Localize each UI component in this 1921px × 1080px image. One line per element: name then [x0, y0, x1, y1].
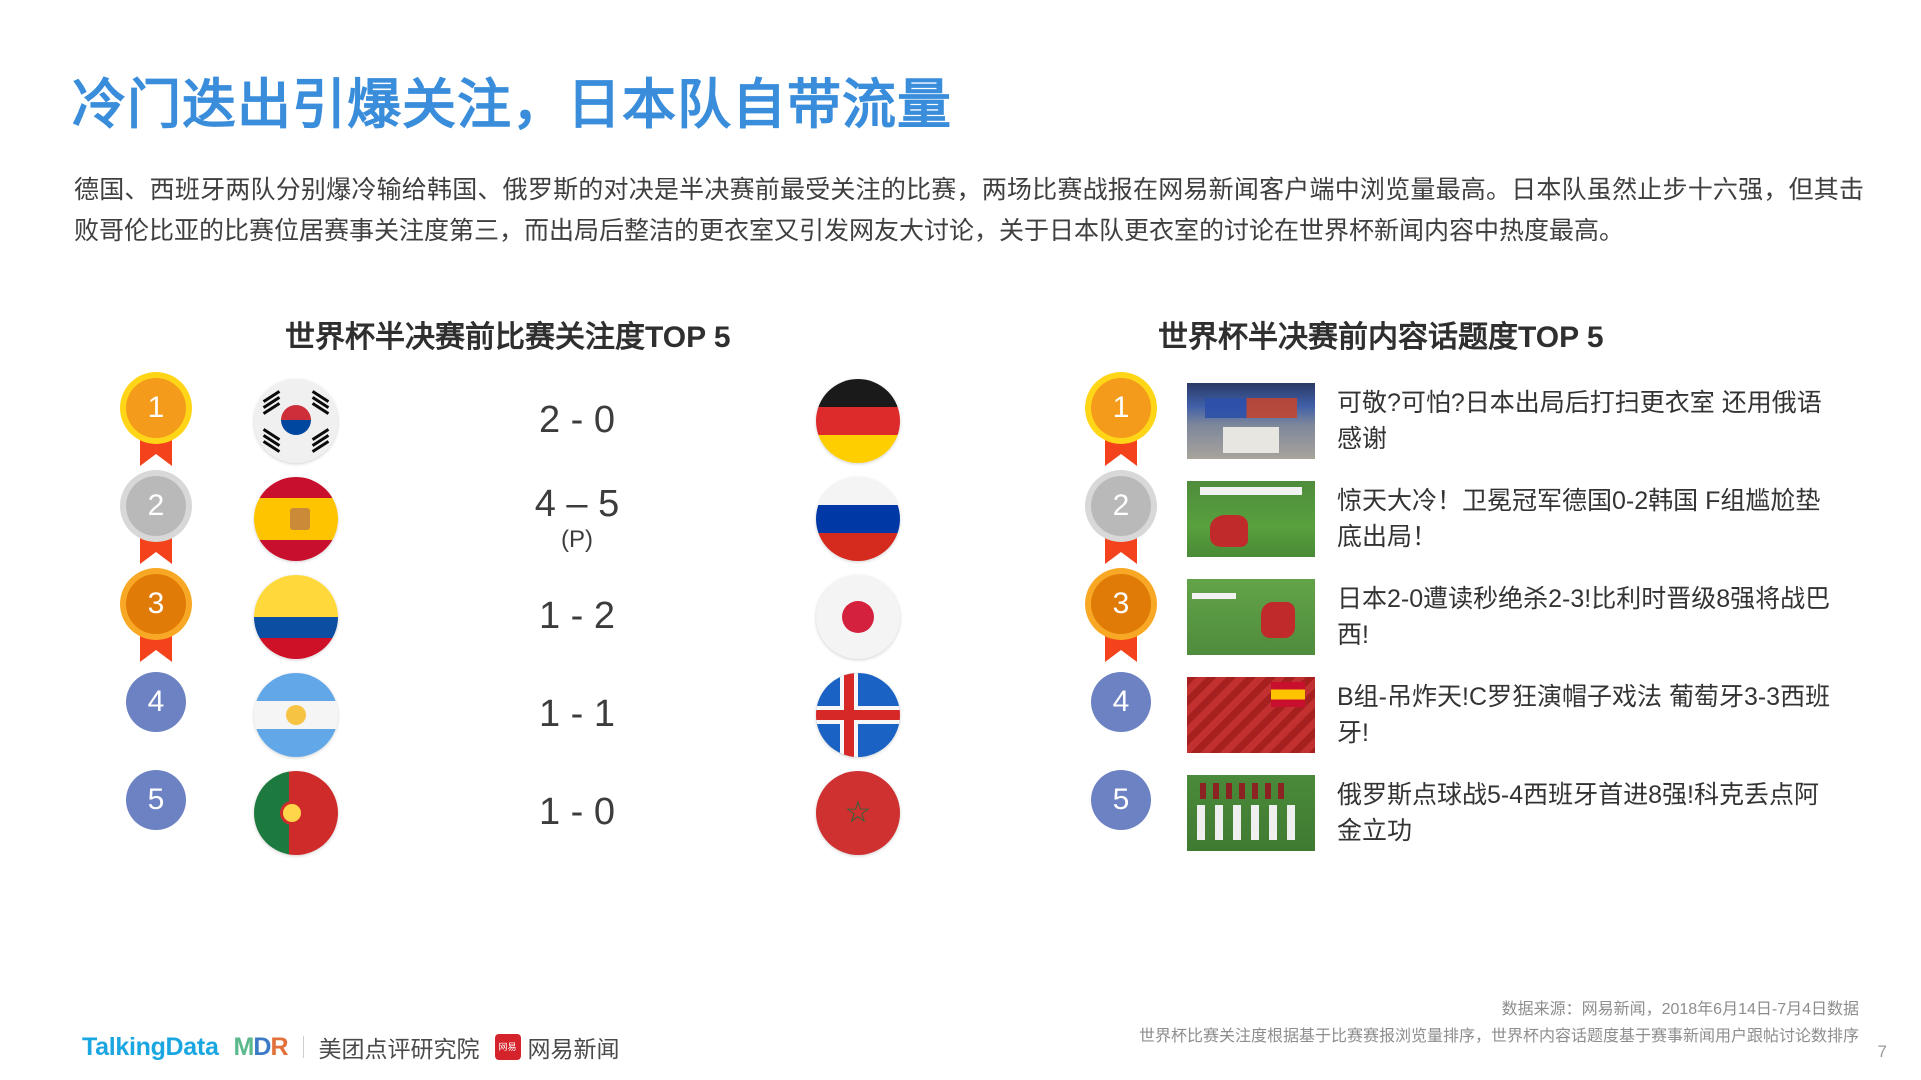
portugal-crest-icon	[280, 801, 304, 825]
match-score: 1 - 2	[338, 597, 816, 637]
slide-root: 冷门迭出引爆关注，日本队自带流量 德国、西班牙两队分别爆冷输给韩国、俄罗斯的对决…	[0, 0, 1921, 1080]
content-title: 可敬?可怕?日本出局后打扫更衣室 还用俄语感谢	[1337, 385, 1845, 457]
list-item[interactable]: 2 惊天大冷！卫冕冠军德国0-2韩国 F组尴尬垫底出局！	[1085, 470, 1845, 568]
rank-number: 3	[1091, 574, 1151, 634]
score-text: 2 - 0	[539, 399, 615, 441]
netease-news-logo: 网易 网易新闻	[495, 1030, 620, 1064]
mdr-m: M	[234, 1033, 254, 1061]
source-line-2: 世界杯比赛关注度根据基于比赛赛报浏览量排序，世界杯内容话题度基于赛事新闻用户跟帖…	[1039, 1023, 1859, 1050]
rank-badge-2: 2	[1085, 476, 1157, 562]
match-score: 1 - 1	[338, 695, 816, 735]
match-score: 4 – 5 (P)	[338, 485, 816, 552]
match-attention-list: 1 2 - 0	[120, 372, 900, 862]
rank-number: 1	[126, 378, 186, 438]
match-row: 3 1 - 2	[120, 568, 900, 666]
rank-badge-4: 4	[1085, 672, 1157, 758]
spain-crest-icon	[290, 508, 310, 530]
rank-badge-3: 3	[1085, 574, 1157, 660]
portugal-flag	[254, 771, 338, 855]
rank-badge-3: 3	[120, 574, 192, 660]
right-section-heading: 世界杯半决赛前内容话题度TOP 5	[1158, 312, 1604, 356]
score-text: 1 - 2	[539, 595, 615, 637]
iceland-flag	[816, 673, 900, 757]
korea-flag	[254, 379, 338, 463]
score-text: 1 - 1	[539, 693, 615, 735]
match-row: 1 2 - 0	[120, 372, 900, 470]
netease-mark-icon: 网易	[495, 1034, 521, 1060]
red-crowd-photo	[1187, 677, 1315, 753]
mdr-d: D	[253, 1033, 270, 1061]
rank-number: 4	[1091, 672, 1151, 732]
sun-of-may-icon	[286, 705, 306, 725]
rank-number: 2	[126, 476, 186, 536]
rank-number: 5	[126, 770, 186, 830]
source-note: 数据来源：网易新闻，2018年6月14日-7月4日数据 世界杯比赛关注度根据基于…	[1039, 996, 1859, 1050]
list-item[interactable]: 3 日本2-0遭读秒绝杀2-3!比利时晋级8强将战巴西!	[1085, 568, 1845, 666]
mdr-logo: MDR	[234, 1033, 288, 1062]
argentina-flag	[254, 673, 338, 757]
netease-news-label: 网易新闻	[528, 1030, 620, 1064]
score-text: 1 - 0	[539, 791, 615, 833]
rank-number: 4	[126, 672, 186, 732]
match-row: 5 1 - 0 ☆	[120, 764, 900, 862]
rank-number: 2	[1091, 476, 1151, 536]
players-down-photo	[1187, 579, 1315, 655]
page-title: 冷门迭出引爆关注，日本队自带流量	[72, 60, 952, 139]
penalty-note: (P)	[338, 527, 816, 552]
logo-divider	[303, 1036, 304, 1058]
russia-flag	[816, 477, 900, 561]
rank-number: 5	[1091, 770, 1151, 830]
locker-room-photo	[1187, 383, 1315, 459]
rank-badge-1: 1	[120, 378, 192, 464]
rank-number: 3	[126, 574, 186, 634]
japan-flag	[816, 575, 900, 659]
morocco-flag: ☆	[816, 771, 900, 855]
content-title: 惊天大冷！卫冕冠军德国0-2韩国 F组尴尬垫底出局！	[1337, 483, 1845, 555]
rank-number: 1	[1091, 378, 1151, 438]
germany-flag	[816, 379, 900, 463]
colombia-flag	[254, 575, 338, 659]
rank-badge-1: 1	[1085, 378, 1157, 464]
rank-badge-4: 4	[120, 672, 192, 758]
page-number: 7	[1878, 1042, 1887, 1062]
goal-mouth-photo	[1187, 481, 1315, 557]
content-title: B组-吊炸天!C罗狂演帽子戏法 葡萄牙3-3西班牙!	[1337, 679, 1845, 751]
pentagram-icon: ☆	[844, 799, 872, 827]
content-title: 俄罗斯点球战5-4西班牙首进8强!科克丢点阿金立功	[1337, 777, 1845, 849]
mdr-r: R	[270, 1033, 287, 1061]
spain-flag	[254, 477, 338, 561]
meituan-research-logo: 美团点评研究院	[319, 1030, 480, 1064]
match-row: 4 1 - 1	[120, 666, 900, 764]
rank-badge-5: 5	[120, 770, 192, 856]
rank-badge-5: 5	[1085, 770, 1157, 856]
match-row: 2 4 – 5 (P)	[120, 470, 900, 568]
list-item[interactable]: 1 可敬?可怕?日本出局后打扫更衣室 还用俄语感谢	[1085, 372, 1845, 470]
source-line-1: 数据来源：网易新闻，2018年6月14日-7月4日数据	[1039, 996, 1859, 1023]
content-topic-list: 1 可敬?可怕?日本出局后打扫更衣室 还用俄语感谢 2 惊天大冷！卫冕冠军德国0…	[1085, 372, 1845, 862]
left-section-heading: 世界杯半决赛前比赛关注度TOP 5	[285, 312, 731, 356]
lede-paragraph: 德国、西班牙两队分别爆冷输给韩国、俄罗斯的对决是半决赛前最受关注的比赛，两场比赛…	[74, 170, 1864, 252]
list-item[interactable]: 5 俄罗斯点球战5-4西班牙首进8强!科克丢点阿金立功	[1085, 764, 1845, 862]
list-item[interactable]: 4 B组-吊炸天!C罗狂演帽子戏法 葡萄牙3-3西班牙!	[1085, 666, 1845, 764]
match-score: 1 - 0	[338, 793, 816, 833]
content-title: 日本2-0遭读秒绝杀2-3!比利时晋级8强将战巴西!	[1337, 581, 1845, 653]
talkingdata-logo: TalkingData	[82, 1033, 219, 1062]
celebration-photo	[1187, 775, 1315, 851]
rank-badge-2: 2	[120, 476, 192, 562]
footer-logos: TalkingData MDR 美团点评研究院 网易 网易新闻	[82, 1030, 620, 1064]
score-text: 4 – 5	[535, 483, 620, 525]
match-score: 2 - 0	[338, 401, 816, 441]
